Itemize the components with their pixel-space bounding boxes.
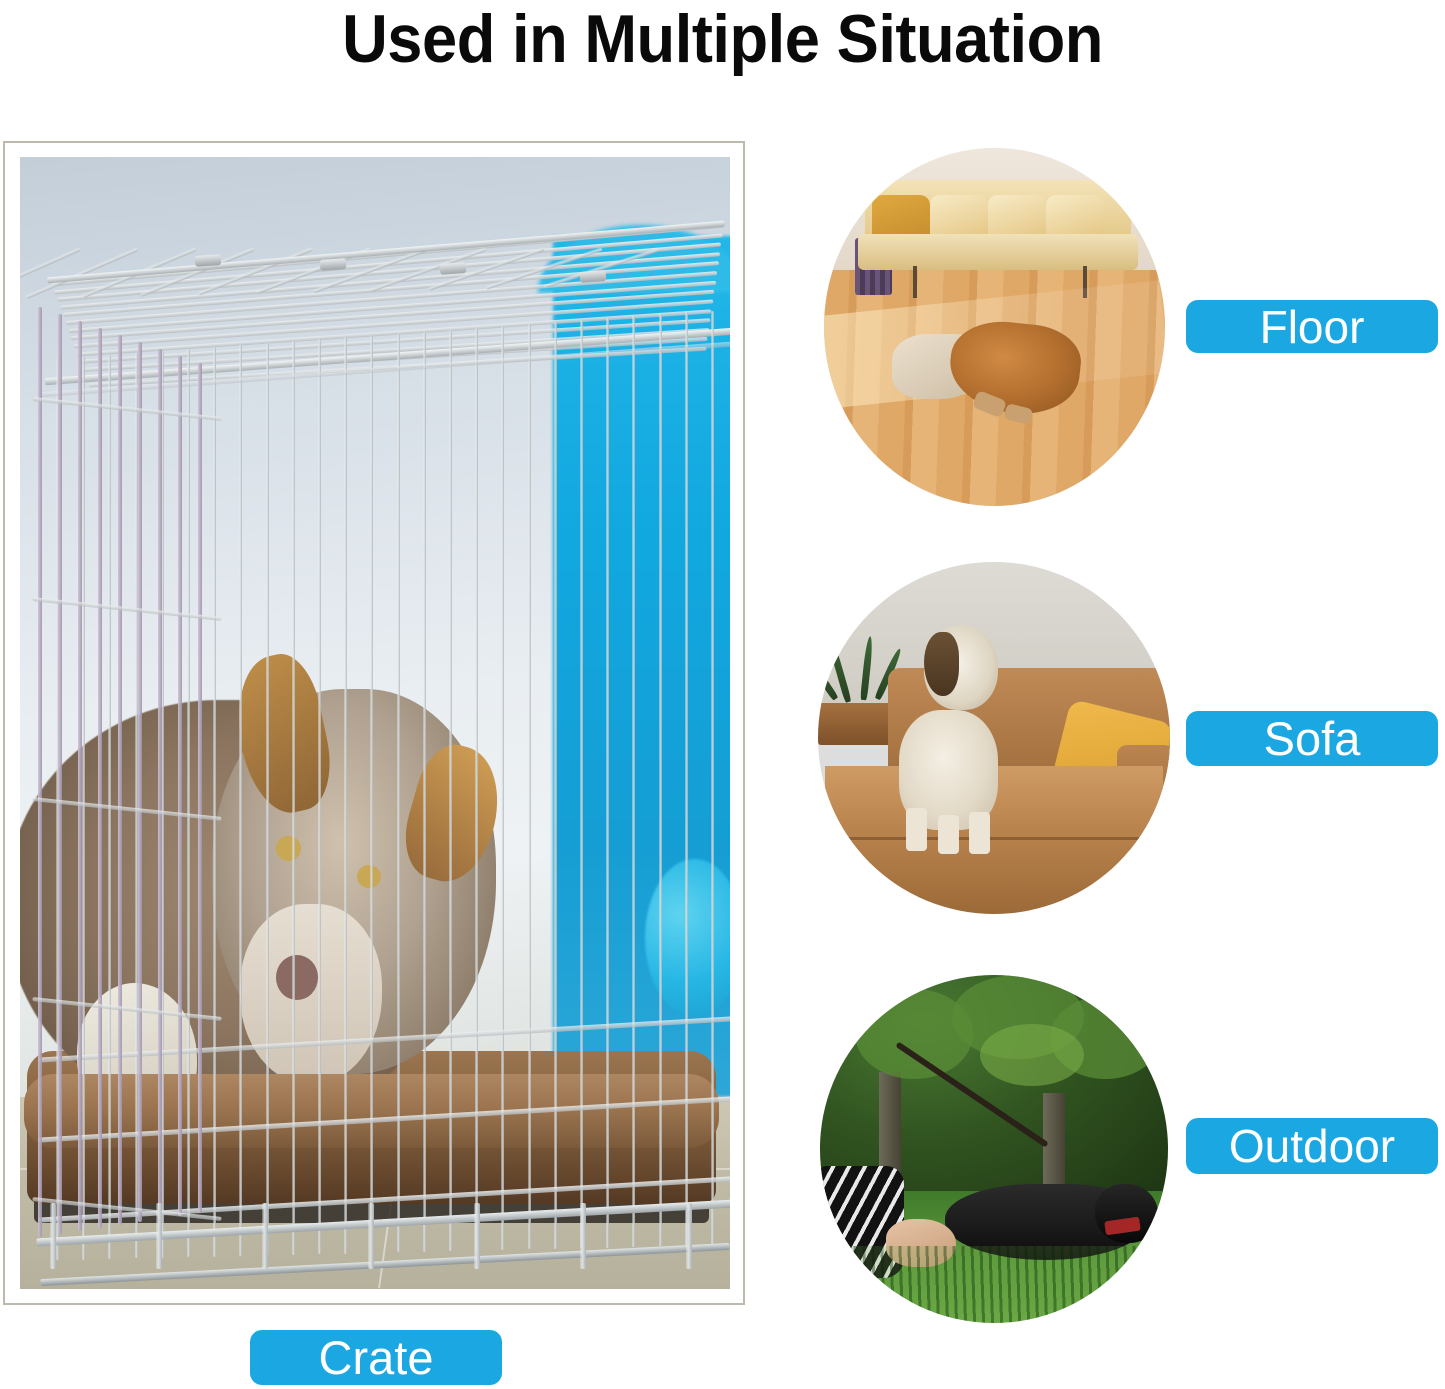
crate-front-wire [711,311,714,1246]
crate-photo [20,157,730,1289]
situation-image-outdoor [820,975,1168,1323]
crate-front-wire [239,345,242,1256]
label-sofa: Sofa [1186,711,1438,766]
crate-wire-structure [20,157,730,1289]
situation-image-sofa [818,562,1170,914]
crate-latch [440,262,467,275]
crate-side-wire [198,363,202,1213]
crate-front-wire [397,334,400,1253]
crate-base-leg [580,1203,586,1269]
crate-base-leg [50,1203,56,1269]
crate-front-wire [344,337,347,1253]
crate-base-leg [262,1203,268,1269]
crate-base-leg [368,1203,374,1269]
page-title: Used in Multiple Situation [51,0,1395,80]
crate-side-wire [178,356,182,1216]
crate-front-wire [370,335,373,1253]
label-outdoor: Outdoor [1186,1118,1438,1174]
situation-image-floor [824,148,1165,506]
crate-photo-frame [3,141,745,1305]
crate-front-wire [292,341,295,1255]
crate-side-wire [58,314,62,1234]
crate-side-wire [158,349,162,1219]
crate-side-wire [138,342,142,1222]
crate-latch [320,258,347,271]
crate-front-wire [187,349,190,1257]
crate-front-wire [659,314,662,1246]
crate-base-rail-lower [40,1243,729,1286]
crate-front-wire [685,312,688,1245]
label-floor: Floor [1186,300,1438,353]
crate-front-rail [38,1016,730,1062]
crate-base-leg [474,1203,480,1269]
crate-side-wire [118,335,122,1225]
crate-latch [580,270,607,283]
crate-front-wire [318,339,321,1254]
crate-base-leg [686,1203,692,1269]
crate-latch [195,254,222,267]
crate-front-rail [38,1176,730,1222]
crate-front-wire [82,356,85,1259]
crate-front-wire [266,343,269,1255]
crate-base-leg [156,1203,162,1269]
crate-front-wire [213,347,216,1257]
crate-side-wire [38,307,42,1237]
label-crate: Crate [250,1330,502,1385]
crate-side-wire [78,321,82,1231]
crate-side-wire [98,328,102,1228]
crate-front-rail [38,1096,730,1142]
